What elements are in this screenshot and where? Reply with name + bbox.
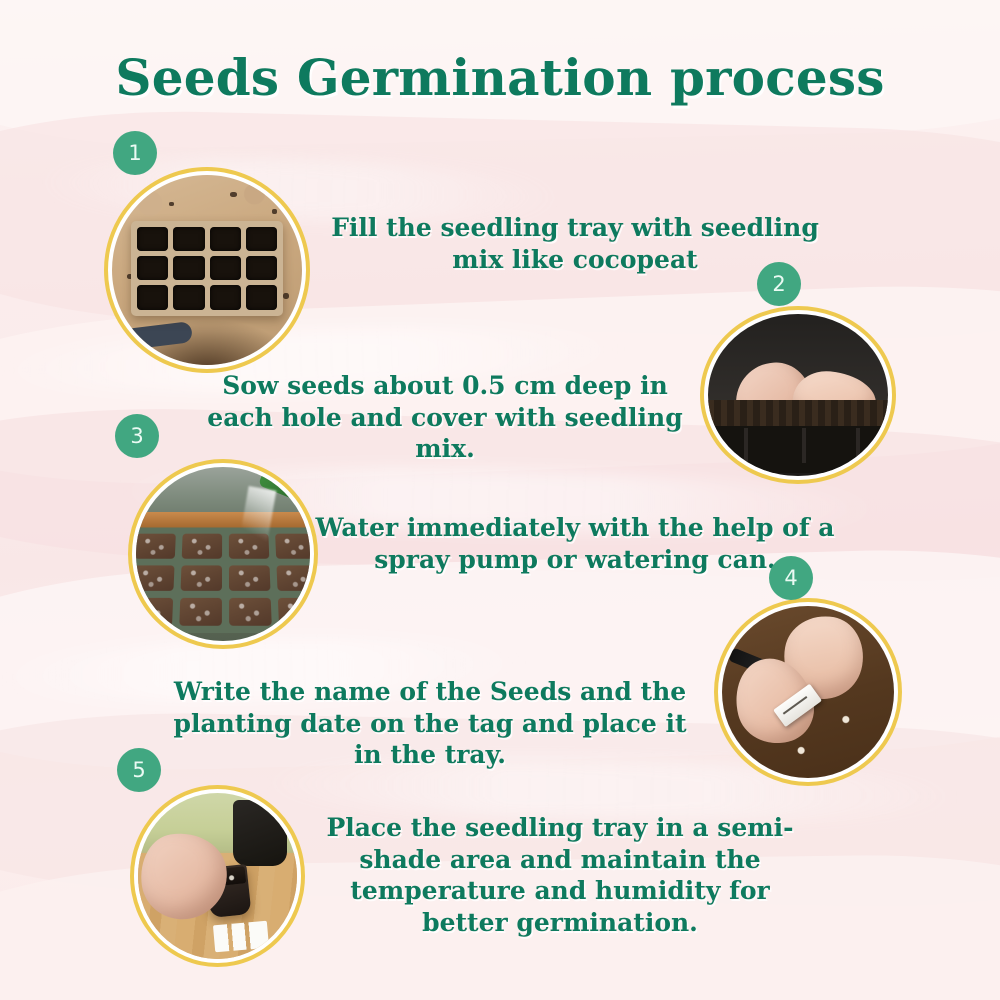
wooden-shelf xyxy=(136,512,310,528)
soil-speck xyxy=(135,190,141,195)
step-badge-4: 4 xyxy=(769,556,813,600)
step-photo-2 xyxy=(700,306,896,484)
tray-cell xyxy=(246,256,277,280)
dark-seed-tray xyxy=(708,418,888,473)
black-pot-large xyxy=(233,800,287,866)
tray-cell xyxy=(136,565,174,591)
step-caption-3: Water immediately with the help of a spr… xyxy=(305,512,845,575)
step-photo-2-image xyxy=(708,314,888,476)
page-title: Seeds Germination process xyxy=(0,48,1000,107)
step-photo-4-image xyxy=(722,606,894,778)
soil-speck xyxy=(230,192,237,197)
soil-speck xyxy=(169,202,174,206)
tray-cell xyxy=(136,599,173,627)
tray-rib xyxy=(802,428,806,463)
tray-cell xyxy=(246,227,277,251)
step-badge-1: 1 xyxy=(113,131,157,175)
tray-cell xyxy=(210,227,241,251)
step-photo-3 xyxy=(128,459,318,649)
seed-tray-grid xyxy=(131,221,283,316)
step-photo-5 xyxy=(130,785,305,967)
tray-cell xyxy=(228,599,271,627)
step-badge-4-label: 4 xyxy=(784,566,797,590)
step-badge-5-label: 5 xyxy=(132,758,145,782)
writing-plant-tag-art xyxy=(722,606,894,778)
step-badge-1-label: 1 xyxy=(128,141,141,165)
step-badge-2-label: 2 xyxy=(772,272,785,296)
white-plant-tags xyxy=(213,920,269,951)
step-badge-3-label: 3 xyxy=(130,424,143,448)
tray-cell xyxy=(179,599,222,627)
tray-cell xyxy=(210,256,241,280)
step-photo-4 xyxy=(714,598,902,786)
tray-cell xyxy=(137,285,168,309)
tray-cell xyxy=(136,534,175,559)
step-caption-1: Fill the seedling tray with seedling mix… xyxy=(330,212,820,275)
tray-cell xyxy=(173,227,204,251)
step-photo-1 xyxy=(104,167,310,373)
green-seed-tray xyxy=(136,528,310,634)
step-photo-3-image xyxy=(136,467,310,641)
tray-cell xyxy=(180,565,221,591)
watering-tray-art xyxy=(136,467,310,641)
soil-speck xyxy=(283,293,289,299)
step-caption-5: Place the seedling tray in a semi-shade … xyxy=(315,812,805,938)
tray-cell xyxy=(277,599,310,627)
step-badge-5: 5 xyxy=(117,748,161,792)
tray-cell xyxy=(173,285,204,309)
infographic-poster: Seeds Germination process 1 xyxy=(0,0,1000,1000)
tray-cell xyxy=(246,285,277,309)
tray-cell xyxy=(137,227,168,251)
tray-cell xyxy=(181,534,221,559)
placing-pot-on-table-art xyxy=(138,793,297,959)
tray-rib xyxy=(856,428,860,463)
tray-cell xyxy=(173,256,204,280)
step-caption-4: Write the name of the Seeds and the plan… xyxy=(165,676,695,771)
step-caption-2: Sow seeds about 0.5 cm deep in each hole… xyxy=(205,370,685,465)
hands-sowing-seeds-art xyxy=(708,314,888,476)
tray-cell xyxy=(228,565,269,591)
seedling-tray-photo-art xyxy=(112,175,302,365)
tray-cell xyxy=(210,285,241,309)
soil-speck xyxy=(272,209,277,214)
tray-rib xyxy=(744,428,748,463)
step-photo-5-image xyxy=(138,793,297,959)
step-photo-1-image xyxy=(112,175,302,365)
step-badge-2: 2 xyxy=(757,262,801,306)
tray-cell xyxy=(137,256,168,280)
step-badge-3: 3 xyxy=(115,414,159,458)
